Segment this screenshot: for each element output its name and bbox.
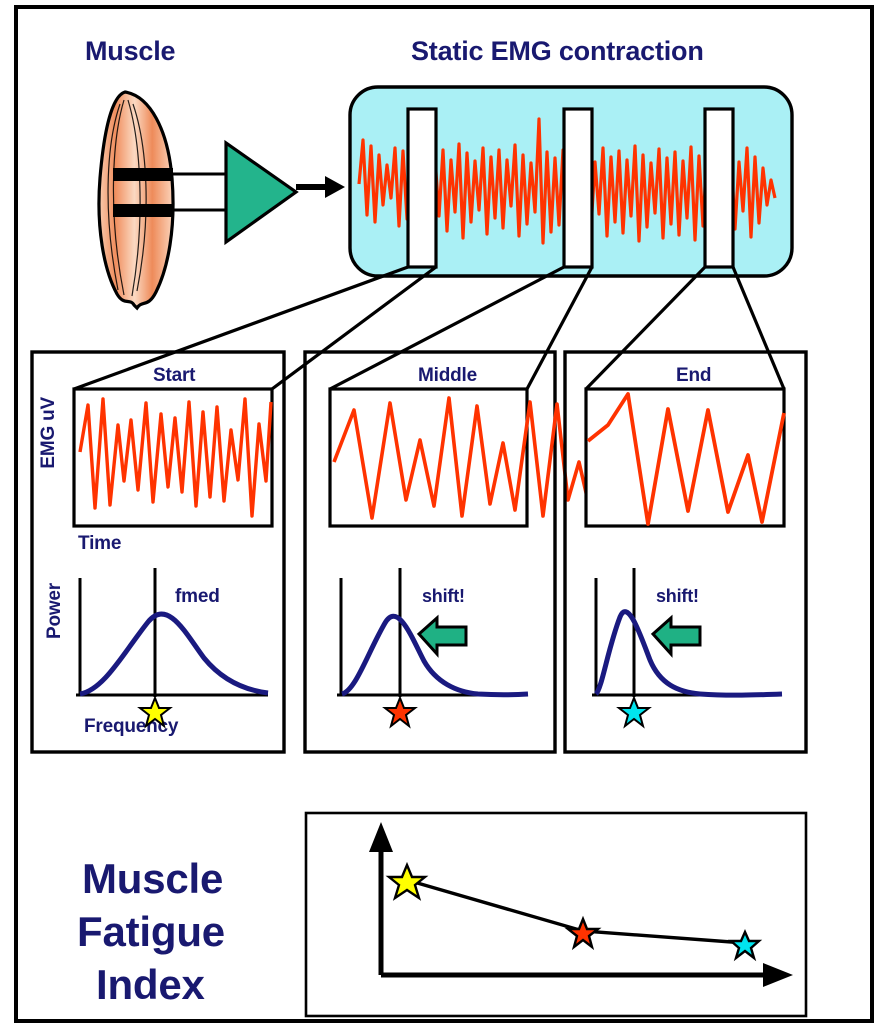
figure-root: Muscle Static EMG contraction + - Start …	[0, 0, 892, 1030]
panel-start-spectrum-curve	[80, 614, 268, 694]
electrode-leads	[170, 174, 226, 210]
diagram-canvas	[0, 0, 892, 1030]
emg-sample-window-end	[705, 109, 733, 267]
star-marker-middle	[385, 698, 415, 726]
electrode-lower	[113, 204, 173, 217]
star-marker-end	[619, 698, 649, 726]
shift-arrow-icon-end	[653, 618, 700, 654]
panel-end-spectrum-curve	[596, 612, 782, 695]
electrode-upper	[113, 168, 173, 181]
muscle-fatigue-index-chart	[306, 813, 806, 1016]
emg-sample-window-middle	[564, 109, 592, 267]
emg-sample-window-start	[408, 109, 436, 267]
muscle-illustration	[99, 92, 173, 308]
shift-arrow-icon-middle	[419, 618, 466, 654]
emg-signal-panel	[350, 87, 792, 276]
panel-middle	[305, 352, 626, 752]
differential-amplifier-icon	[226, 143, 296, 242]
panel-middle-emg-box	[330, 389, 527, 526]
panel-start	[32, 352, 284, 752]
star-marker-start	[140, 698, 170, 726]
signal-arrow-icon	[296, 176, 345, 198]
panel-end	[565, 352, 806, 752]
zoom-connector-lines	[74, 267, 784, 389]
